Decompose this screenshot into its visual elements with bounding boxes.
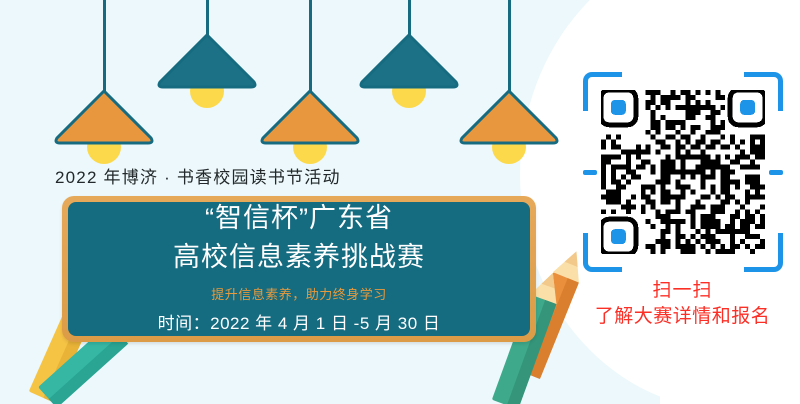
banner-board: “智信杯”广东省 高校信息素养挑战赛 提升信息素养，助力终身学习 时间：2022…: [68, 202, 530, 336]
lamp-cord: [309, 0, 312, 92]
poster-canvas: 2022 年博济 · 书香校园读书节活动: [0, 0, 800, 404]
event-headline: 2022 年博济 · 书香校园读书节活动: [55, 163, 341, 188]
lamp-cord: [408, 0, 411, 36]
lamp-shade: [357, 32, 461, 90]
qr-code-image[interactable]: [601, 90, 765, 254]
qr-caption-line1: 扫一扫: [575, 278, 790, 304]
lamp-cord: [206, 0, 209, 36]
banner-frame: “智信杯”广东省 高校信息素养挑战赛 提升信息素养，助力终身学习 时间：2022…: [62, 196, 536, 342]
lamp-cord: [103, 0, 106, 92]
lamp-shade: [155, 32, 259, 90]
qr-tick-left-icon: [583, 170, 597, 175]
lamp-cord: [508, 0, 511, 92]
qr-scan-frame: [583, 72, 783, 272]
lamp-shade: [258, 88, 362, 146]
qr-caption: 扫一扫 了解大赛详情和报名: [575, 278, 790, 329]
qr-tick-right-icon: [769, 170, 783, 175]
banner-title-line1: “智信杯”广东省: [205, 202, 393, 236]
qr-caption-line2: 了解大赛详情和报名: [575, 304, 790, 330]
banner-slogan: 提升信息素养，助力终身学习: [211, 284, 387, 303]
banner-date: 时间：2022 年 4 月 1 日 -5 月 30 日: [158, 309, 441, 334]
banner-title-line2: 高校信息素养挑战赛: [173, 240, 425, 275]
lamp-shade: [52, 88, 156, 146]
lamp-shade: [457, 88, 561, 146]
qr-section: 扫一扫 了解大赛详情和报名: [575, 72, 790, 329]
